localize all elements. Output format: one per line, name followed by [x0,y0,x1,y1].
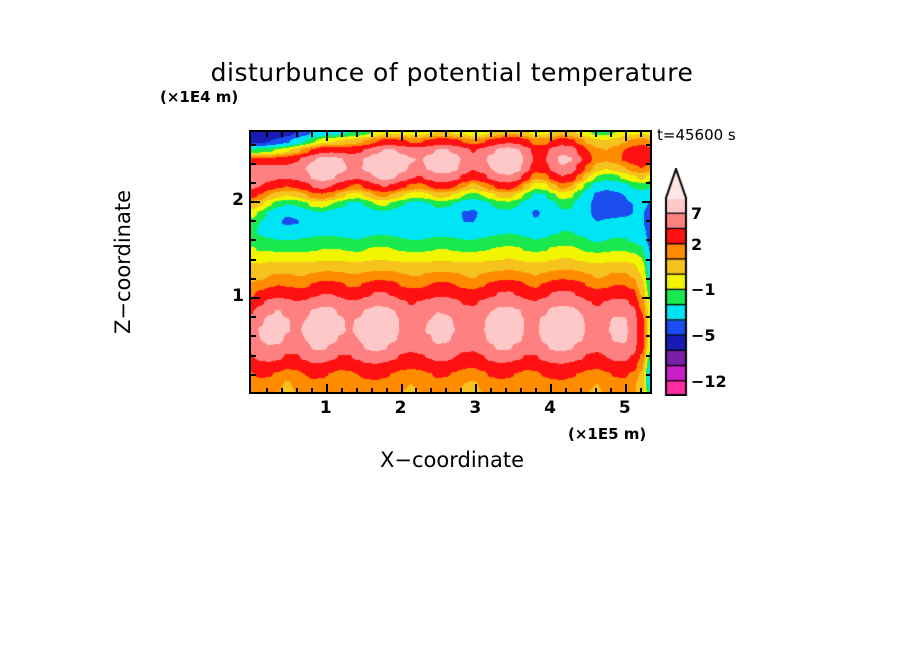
tick-mark [281,132,283,137]
tick-mark [520,132,522,137]
tick-mark [326,384,328,393]
tick-mark [356,132,358,137]
tick-mark [251,335,256,337]
tick-mark [251,163,256,165]
tick-mark [311,132,313,137]
tick-mark [341,388,343,393]
tick-mark [251,239,256,241]
tick-mark [646,144,651,146]
x-axis-label: X−coordinate [0,448,904,472]
tick-mark [356,388,358,393]
tick-mark [386,388,388,393]
tick-mark [490,388,492,393]
tick-mark [535,388,537,393]
tick-mark [251,374,256,376]
tick-mark [646,374,651,376]
x-axis-unit-label: (×1E5 m) [568,425,646,443]
tick-mark [642,297,651,299]
tick-mark [445,388,447,393]
tick-mark [625,132,627,141]
x-tick-label: 3 [455,398,495,418]
tick-mark [565,388,567,393]
contour-field [251,132,651,393]
tick-mark [565,132,567,137]
tick-mark [580,388,582,393]
tick-mark [490,132,492,137]
tick-mark [646,163,651,165]
tick-mark [326,132,328,141]
tick-mark [311,388,313,393]
tick-mark [251,316,256,318]
tick-mark [535,132,537,137]
tick-mark [610,388,612,393]
tick-mark [251,201,260,203]
tick-mark [520,388,522,393]
tick-mark [251,355,256,357]
x-tick-label: 5 [605,398,645,418]
colorbar [662,168,690,396]
tick-mark [646,316,651,318]
tick-mark [646,259,651,261]
tick-mark [646,239,651,241]
colorbar-tick-label: −1 [691,280,716,299]
tick-mark [296,388,298,393]
tick-mark [475,132,477,141]
tick-mark [642,201,651,203]
tick-mark [251,182,256,184]
y-axis-label: Z−coordinate [111,137,135,387]
x-tick-label: 4 [530,398,570,418]
tick-mark [266,388,268,393]
colorbar-tick-label: 7 [691,204,702,223]
tick-mark [505,132,507,137]
tick-mark [371,132,373,137]
y-tick-label: 2 [214,190,244,210]
tick-mark [266,132,268,137]
tick-mark [296,132,298,137]
tick-mark [646,355,651,357]
y-tick-label: 1 [214,286,244,306]
colorbar-tick-label: 2 [691,235,702,254]
tick-mark [610,132,612,137]
chart-title: disturbunce of potential temperature [0,58,904,87]
tick-mark [460,388,462,393]
colorbar-tick-label: −5 [691,326,716,345]
tick-mark [550,384,552,393]
tick-mark [595,132,597,137]
tick-mark [646,220,651,222]
tick-mark [341,132,343,137]
tick-mark [251,220,256,222]
tick-mark [251,278,256,280]
tick-mark [646,278,651,280]
tick-mark [640,388,642,393]
tick-mark [475,384,477,393]
tick-mark [251,259,256,261]
tick-mark [415,132,417,137]
tick-mark [445,132,447,137]
tick-mark [430,388,432,393]
tick-mark [640,132,642,137]
tick-mark [415,388,417,393]
tick-mark [401,384,403,393]
tick-mark [386,132,388,137]
tick-mark [550,132,552,141]
z-axis-unit-label: (×1E4 m) [160,88,238,106]
tick-mark [430,132,432,137]
tick-mark [505,388,507,393]
tick-mark [251,144,256,146]
tick-mark [646,335,651,337]
x-tick-label: 1 [306,398,346,418]
tick-mark [595,388,597,393]
tick-mark [625,384,627,393]
tick-mark [401,132,403,141]
tick-mark [580,132,582,137]
tick-mark [371,388,373,393]
x-tick-label: 2 [381,398,421,418]
colorbar-tick-label: −12 [691,372,727,391]
tick-mark [251,297,260,299]
tick-mark [460,132,462,137]
timestamp-annotation: t=45600 s [657,126,736,144]
tick-mark [646,182,651,184]
tick-mark [281,388,283,393]
